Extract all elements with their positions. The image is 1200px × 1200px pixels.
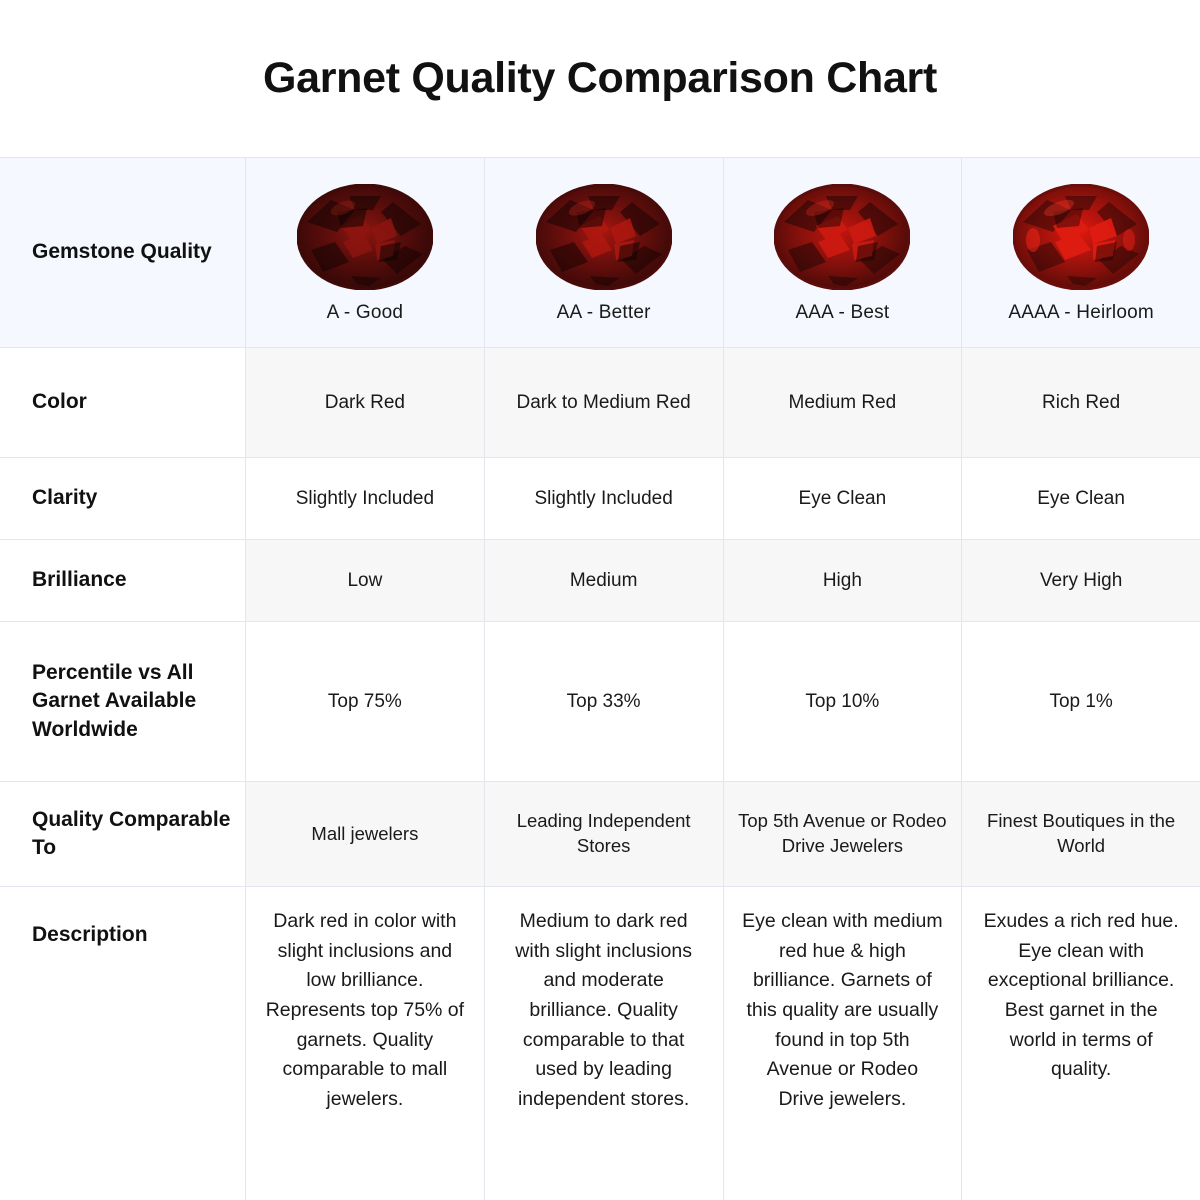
grade-label-aa: AA - Better [557,300,651,326]
cell-brilliance-a: Low [245,540,484,621]
row-label-brilliance: Brilliance [0,540,245,621]
description-text-aa: Medium to dark red with slight inclusion… [503,907,705,1114]
table-row-comparable: Quality Comparable To Mall jewelers Lead… [0,782,1200,887]
cell-percentile-aa: Top 33% [484,622,723,781]
row-label-color: Color [0,348,245,457]
grade-label-a: A - Good [327,300,404,326]
cell-comparable-aa: Leading Independent Stores [484,782,723,886]
garnet-oval-gem-aa-icon [536,184,672,290]
row-label-clarity: Clarity [0,458,245,539]
row-label-percentile: Percentile vs All Garnet Available World… [0,622,245,781]
garnet-oval-gem-aaaa-icon [1013,184,1149,290]
row-label-description: Description [0,887,245,1200]
table-row-brilliance: Brilliance Low Medium High Very High [0,540,1200,622]
description-text-a: Dark red in color with slight inclusions… [264,907,466,1114]
cell-comparable-aaa: Top 5th Avenue or Rodeo Drive Jewelers [723,782,962,886]
column-header-aaaa: AAAA - Heirloom [961,158,1200,347]
garnet-oval-gem-a-icon [297,184,433,290]
cell-clarity-aaaa: Eye Clean [961,458,1200,539]
cell-description-a: Dark red in color with slight inclusions… [245,887,484,1200]
garnet-oval-gem-aaa-icon [774,184,910,290]
cell-clarity-aaa: Eye Clean [723,458,962,539]
table-row-color: Color Dark Red Dark to Medium Red Medium… [0,348,1200,458]
table-row-percentile: Percentile vs All Garnet Available World… [0,622,1200,782]
grade-label-aaa: AAA - Best [795,300,889,326]
cell-color-aa: Dark to Medium Red [484,348,723,457]
cell-color-aaaa: Rich Red [961,348,1200,457]
cell-description-aaa: Eye clean with medium red hue & high bri… [723,887,962,1200]
garnet-comparison-page: Garnet Quality Comparison Chart Gemstone… [0,0,1200,1200]
cell-clarity-aa: Slightly Included [484,458,723,539]
cell-color-aaa: Medium Red [723,348,962,457]
column-header-aaa: AAA - Best [723,158,962,347]
column-header-aa: AA - Better [484,158,723,347]
cell-comparable-a: Mall jewelers [245,782,484,886]
comparison-table: Gemstone Quality [0,157,1200,1200]
description-text-aaaa: Exudes a rich red hue. Eye clean with ex… [980,907,1182,1085]
cell-percentile-a: Top 75% [245,622,484,781]
cell-comparable-aaaa: Finest Boutiques in the World [961,782,1200,886]
cell-percentile-aaa: Top 10% [723,622,962,781]
cell-brilliance-aa: Medium [484,540,723,621]
row-label-comparable: Quality Comparable To [0,782,245,886]
cell-description-aa: Medium to dark red with slight inclusion… [484,887,723,1200]
page-title: Garnet Quality Comparison Chart [263,54,937,103]
cell-brilliance-aaaa: Very High [961,540,1200,621]
cell-clarity-a: Slightly Included [245,458,484,539]
description-text-aaa: Eye clean with medium red hue & high bri… [742,907,944,1114]
column-header-a: A - Good [245,158,484,347]
title-bar: Garnet Quality Comparison Chart [0,0,1200,157]
cell-percentile-aaaa: Top 1% [961,622,1200,781]
grade-label-aaaa: AAAA - Heirloom [1008,300,1154,326]
table-row-description: Description Dark red in color with sligh… [0,887,1200,1200]
cell-brilliance-aaa: High [723,540,962,621]
cell-description-aaaa: Exudes a rich red hue. Eye clean with ex… [961,887,1200,1200]
table-row-clarity: Clarity Slightly Included Slightly Inclu… [0,458,1200,540]
cell-color-a: Dark Red [245,348,484,457]
table-row-gemstone-quality: Gemstone Quality [0,158,1200,348]
row-label-gemstone-quality: Gemstone Quality [0,158,245,347]
